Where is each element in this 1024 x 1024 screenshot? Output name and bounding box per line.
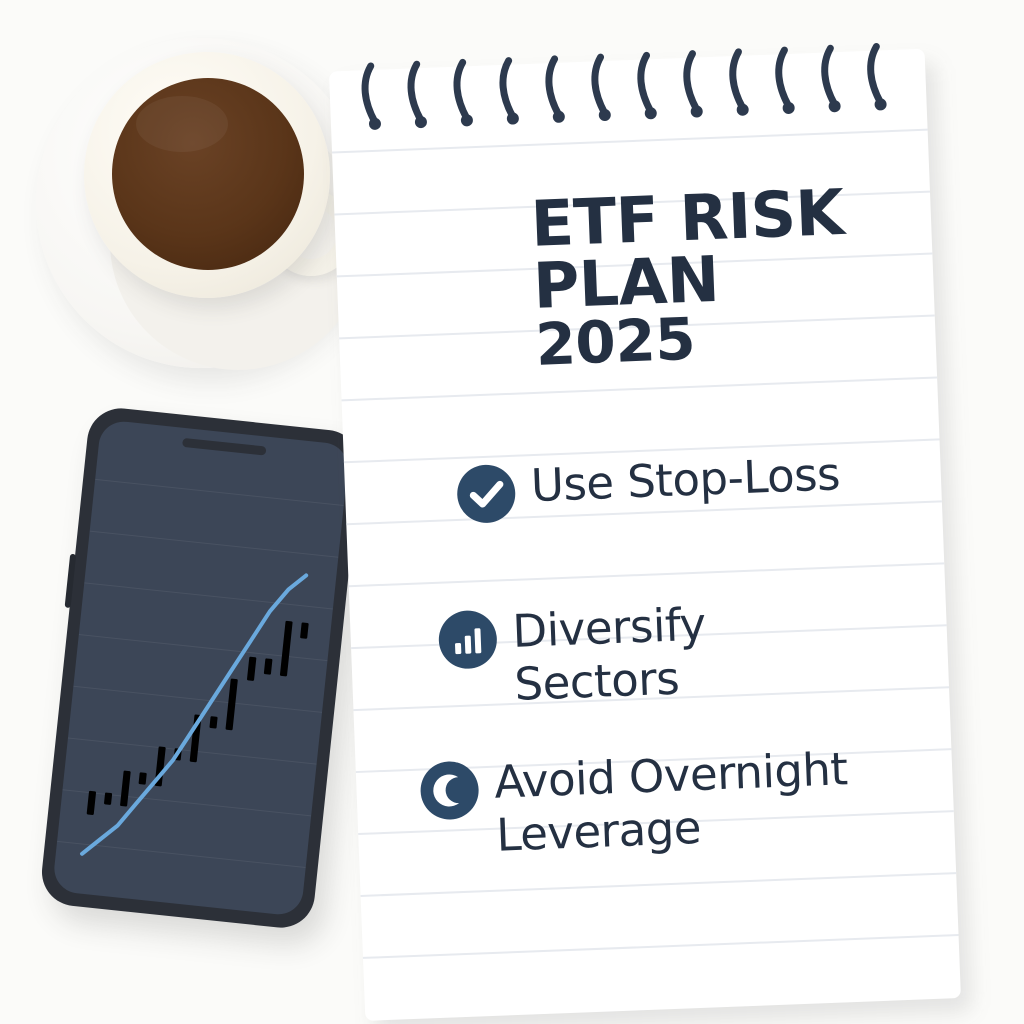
- list-item[interactable]: Avoid Overnight Leverage: [419, 742, 863, 865]
- notepad[interactable]: ETF RISK PLAN 2025 Use Stop-Loss: [329, 49, 961, 1021]
- flat-lay-scene: ETF RISK PLAN 2025 Use Stop-Loss: [0, 0, 1024, 1024]
- candlestick-chart: [52, 419, 350, 917]
- bar-chart-circle-icon: [438, 610, 498, 670]
- list-item[interactable]: Use Stop-Loss: [456, 445, 898, 524]
- list-item-label: Use Stop-Loss: [530, 447, 841, 512]
- check-circle-icon: [456, 464, 516, 524]
- page-title-line-3: 2025: [535, 302, 927, 374]
- list-item-label: Diversify Sectors: [512, 591, 882, 711]
- list-item[interactable]: Diversify Sectors: [438, 591, 882, 714]
- smartphone[interactable]: [39, 405, 364, 931]
- notepad-content: ETF RISK PLAN 2025 Use Stop-Loss: [329, 49, 961, 1021]
- page-title: ETF RISK PLAN 2025: [530, 179, 927, 374]
- coffee-sheen: [136, 96, 228, 152]
- list-item-label: Avoid Overnight Leverage: [493, 742, 863, 862]
- moon-circle-icon: [420, 760, 480, 820]
- phone-screen[interactable]: [52, 419, 350, 917]
